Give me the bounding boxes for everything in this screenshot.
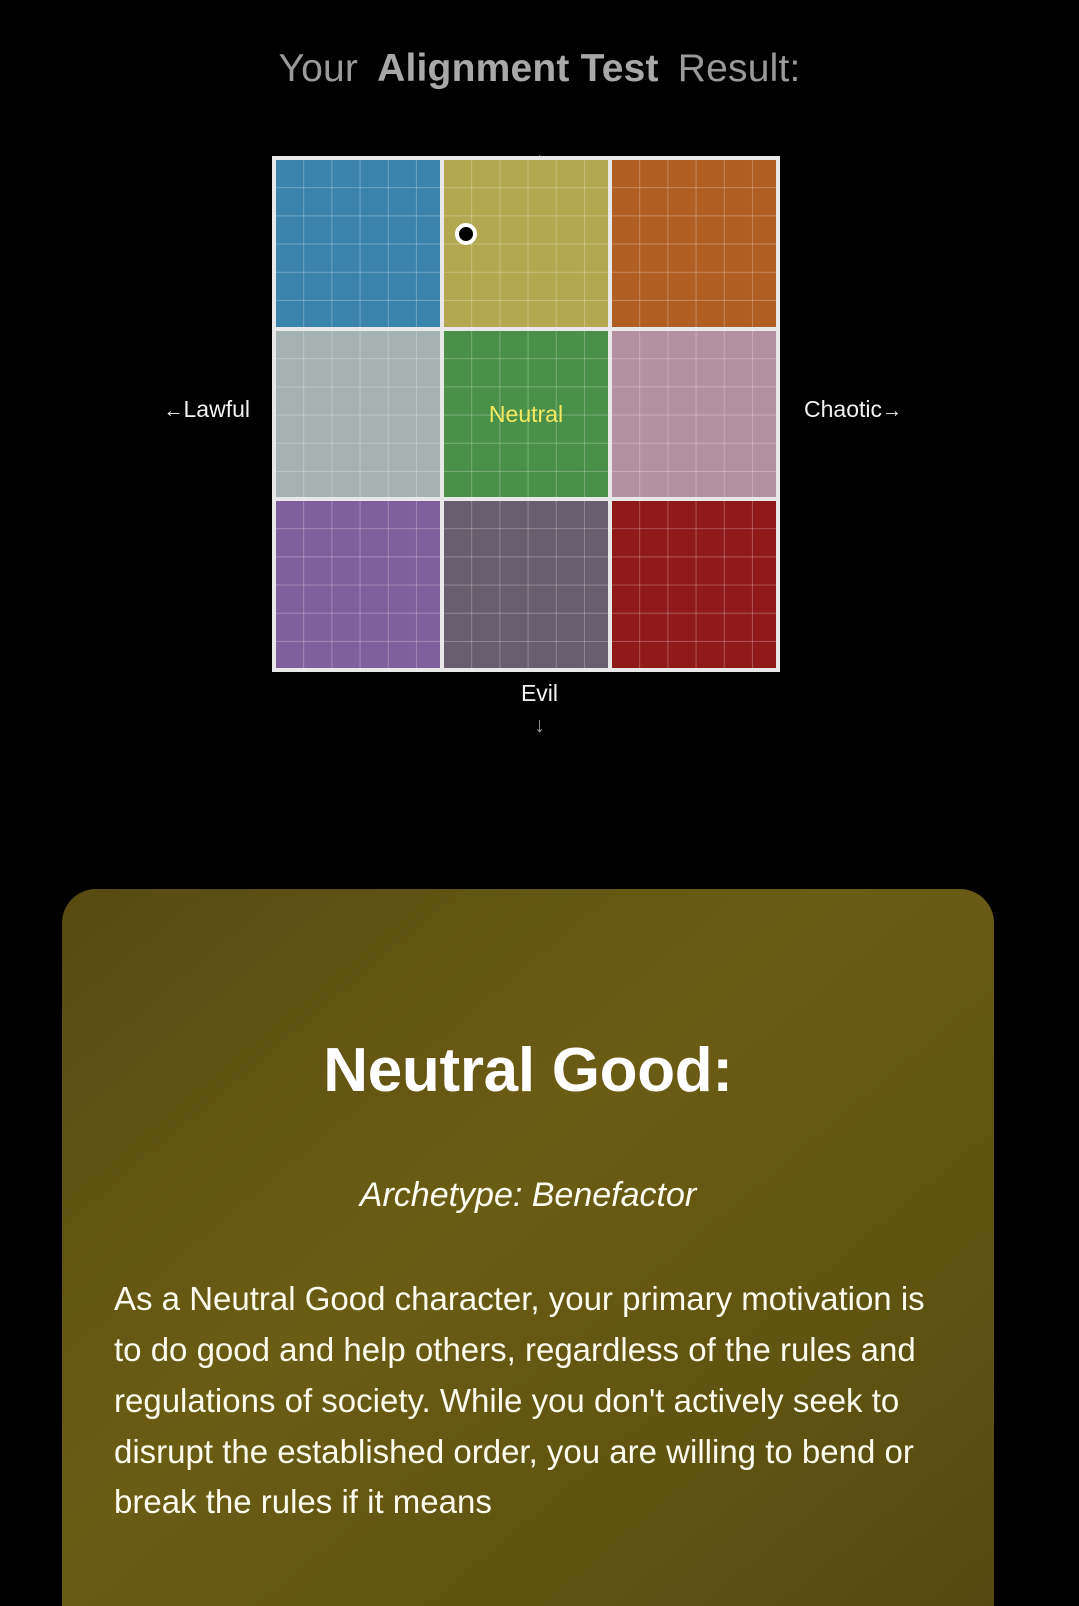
- axis-lawful: ←Lawful: [0, 396, 272, 423]
- result-marker: [455, 223, 477, 245]
- axis-label-evil: Evil: [0, 680, 1079, 706]
- alignment-cell-lawful-neutral: [276, 331, 440, 498]
- alignment-cell-lawful-good: [276, 160, 440, 327]
- arrow-down-icon: ↓: [0, 714, 1079, 738]
- alignment-cell-chaotic-evil: [612, 501, 776, 668]
- axis-evil: Evil ↓: [0, 680, 1079, 738]
- arrow-right-icon: →: [882, 400, 902, 422]
- page-title: Your Alignment Test Result:: [0, 0, 1079, 91]
- alignment-cell-neutral-evil: [444, 501, 608, 668]
- axis-chaotic: Chaotic→: [780, 396, 1070, 423]
- result-archetype: Archetype: Benefactor: [114, 1175, 942, 1216]
- alignment-chart: ↑ Good ←Lawful Chaotic→ Neutral Evil ↓: [0, 151, 1079, 851]
- page-title-suffix: Result:: [678, 48, 801, 91]
- alignment-cell-chaotic-neutral: [612, 331, 776, 498]
- axis-label-chaotic: Chaotic: [804, 396, 882, 422]
- page-title-prefix: Your: [278, 48, 358, 91]
- alignment-cell-lawful-evil: [276, 501, 440, 668]
- alignment-grid: Neutral: [272, 156, 780, 672]
- alignment-cell-chaotic-good: [612, 160, 776, 327]
- alignment-cell-true-neutral: Neutral: [444, 331, 608, 498]
- result-card: Neutral Good: Archetype: Benefactor As a…: [62, 889, 994, 1606]
- result-description: As a Neutral Good character, your primar…: [114, 1274, 942, 1528]
- page-title-emphasis: Alignment Test: [377, 48, 659, 91]
- axis-label-lawful: Lawful: [184, 396, 250, 422]
- arrow-left-icon: ←: [164, 400, 184, 422]
- alignment-cell-label: Neutral: [489, 401, 563, 427]
- result-title: Neutral Good:: [114, 1036, 942, 1105]
